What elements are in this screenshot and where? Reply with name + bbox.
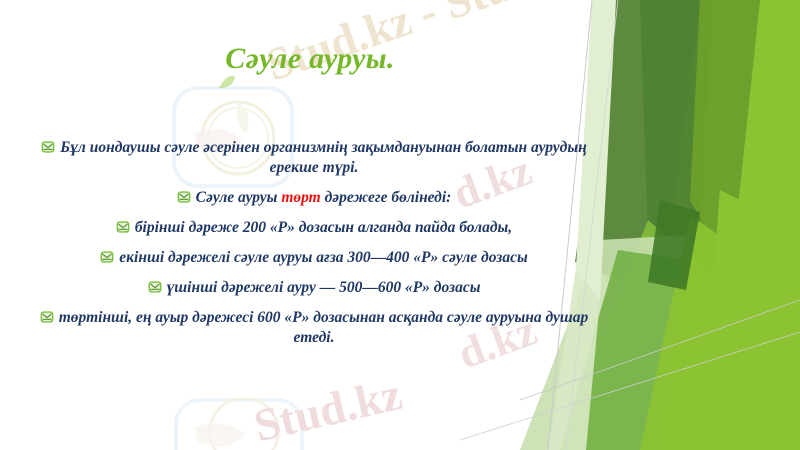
bullet-text: төртінші, ең ауыр дәрежесі 600 «Р» дозас… bbox=[59, 309, 589, 346]
bullet-text: екінші дәрежелі сәуле ауруы ағза 300—400… bbox=[119, 249, 527, 266]
bullet-item: екінші дәрежелі сәуле ауруы ағза 300—400… bbox=[34, 248, 594, 268]
bullet-text: бірінші дәреже 200 «Р» дозасын алганда п… bbox=[135, 219, 512, 236]
green-envelope-bullet-icon bbox=[40, 310, 54, 324]
faint-logo-watermark-bottom bbox=[170, 398, 320, 450]
bullet-item: Бұл иондаушы сәуле әсерінен организмнің … bbox=[34, 138, 594, 178]
bullet-text: Бұл иондаушы сәуле әсерінен организмнің … bbox=[60, 139, 586, 176]
bullet-text: дәрежеге бөлінеді: bbox=[321, 189, 452, 206]
watermark-bottom: Stud.kz bbox=[249, 367, 407, 450]
bullet-highlight-text: төрт bbox=[281, 189, 320, 206]
green-envelope-bullet-icon bbox=[100, 250, 114, 264]
slide-canvas: Stud.kz - Stud. d.kz d.kz Stud.kz Сәуле … bbox=[0, 0, 800, 450]
green-envelope-bullet-icon bbox=[116, 220, 130, 234]
slide-title: Сәуле ауруы. bbox=[0, 42, 620, 76]
bullet-item: төртінші, ең ауыр дәрежесі 600 «Р» дозас… bbox=[34, 308, 594, 348]
bullet-list: Бұл иондаушы сәуле әсерінен организмнің … bbox=[34, 138, 594, 358]
bullet-item: Сәуле ауруы төрт дәрежеге бөлінеді: bbox=[34, 188, 594, 208]
bullet-item: бірінші дәреже 200 «Р» дозасын алганда п… bbox=[34, 218, 594, 238]
green-envelope-bullet-icon bbox=[148, 280, 162, 294]
bullet-text: Сәуле ауруы bbox=[196, 189, 282, 206]
green-envelope-bullet-icon bbox=[41, 140, 55, 154]
bullet-item: үшінші дәрежелі ауру — 500—600 «Р» дозас… bbox=[34, 278, 594, 298]
green-envelope-bullet-icon bbox=[177, 190, 191, 204]
bullet-text: үшінші дәрежелі ауру — 500—600 «Р» дозас… bbox=[167, 279, 481, 296]
